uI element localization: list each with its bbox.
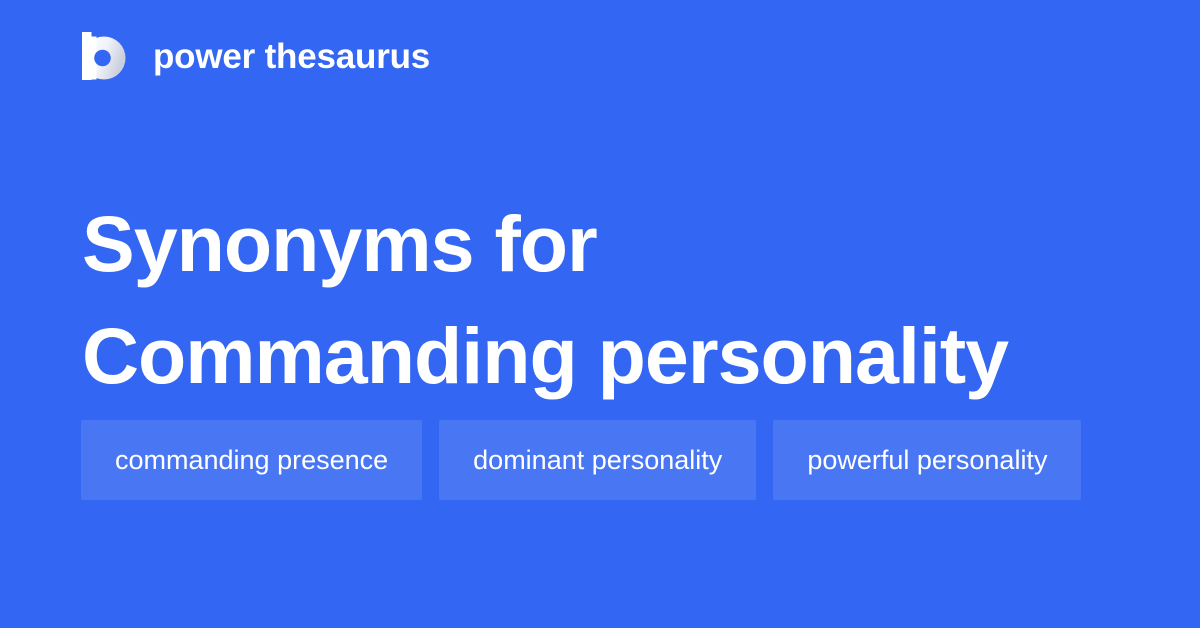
synonym-chip[interactable]: powerful personality [773, 420, 1081, 500]
page-title-line-2: Commanding personality [82, 300, 1142, 412]
synonym-chip-list: commanding presence dominant personality… [81, 420, 1121, 500]
synonym-chip[interactable]: dominant personality [439, 420, 756, 500]
page-title: Synonyms for Commanding personality [82, 188, 1142, 412]
synonyms-share-card: power thesaurus Synonyms for Commanding … [0, 0, 1200, 628]
synonym-chip[interactable]: commanding presence [81, 420, 422, 500]
brand-header[interactable]: power thesaurus [82, 28, 430, 84]
page-title-line-1: Synonyms for [82, 188, 1142, 300]
brand-name: power thesaurus [153, 39, 430, 74]
power-thesaurus-b-logo-icon [82, 32, 126, 80]
